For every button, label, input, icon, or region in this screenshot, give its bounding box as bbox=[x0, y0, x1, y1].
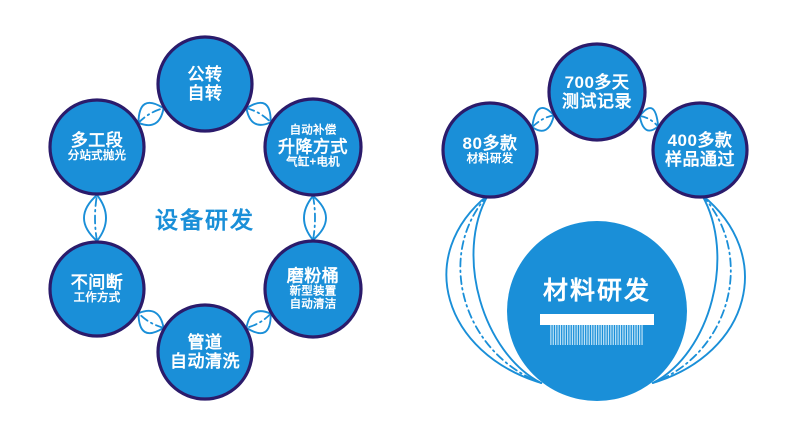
brush-bristle bbox=[567, 325, 568, 345]
brush-bristle bbox=[634, 325, 635, 345]
brush-bristle bbox=[637, 325, 638, 345]
brush-bristle bbox=[603, 325, 604, 345]
connector-arc bbox=[138, 311, 163, 328]
brush-bristle bbox=[565, 325, 566, 345]
brush-bristle bbox=[584, 325, 585, 345]
brush-bristle bbox=[608, 325, 609, 345]
brush-bristle bbox=[629, 325, 630, 345]
brush-bristle bbox=[581, 325, 582, 345]
brush-bristle bbox=[601, 325, 602, 345]
center-label-equipment-rd: 设备研发 bbox=[155, 201, 255, 235]
brush-bristle bbox=[596, 325, 597, 345]
brush-bristle bbox=[610, 325, 611, 345]
brush-bristle bbox=[589, 325, 590, 345]
node-circle-guandao[interactable] bbox=[158, 305, 252, 399]
brush-bristle bbox=[550, 325, 551, 345]
brush-bristle bbox=[560, 325, 561, 345]
brush-bristle bbox=[572, 325, 573, 345]
connector-arc bbox=[138, 313, 163, 328]
diagram-svg bbox=[0, 0, 800, 437]
connector-arc bbox=[313, 196, 315, 240]
brush-bristle bbox=[615, 325, 616, 345]
brush-bristle bbox=[562, 325, 563, 345]
node-circle-mofentong[interactable] bbox=[265, 241, 361, 337]
connector-arc bbox=[95, 195, 97, 241]
node-circle-pass400[interactable] bbox=[653, 103, 747, 197]
node-circle-days700[interactable] bbox=[549, 44, 645, 140]
hub-label-material-rd: 材料研发 bbox=[543, 271, 651, 307]
brush-bristle bbox=[605, 325, 606, 345]
connector-arc bbox=[304, 196, 313, 240]
brush-bristle bbox=[617, 325, 618, 345]
connector-arc bbox=[138, 108, 163, 125]
brush-bristle bbox=[620, 325, 621, 345]
brush-bristle bbox=[591, 325, 592, 345]
brush-bristle bbox=[598, 325, 599, 345]
brush-bristle bbox=[557, 325, 558, 345]
node-circle-shengjiang[interactable] bbox=[265, 99, 361, 195]
brush-bristle bbox=[622, 325, 623, 345]
brush-bristle bbox=[553, 325, 554, 345]
brush-bristle bbox=[593, 325, 594, 345]
brush-bristle bbox=[625, 325, 626, 345]
brush-bristle bbox=[579, 325, 580, 345]
brush-bar bbox=[540, 314, 654, 325]
brush-bristle bbox=[586, 325, 587, 345]
brush-bristle bbox=[627, 325, 628, 345]
node-circle-duogongduan[interactable] bbox=[50, 100, 144, 194]
brush-bristle bbox=[569, 325, 570, 345]
connector-arc bbox=[138, 108, 163, 123]
brush-bristle bbox=[555, 325, 556, 345]
connector-arc bbox=[246, 108, 270, 125]
connector-arc bbox=[246, 311, 270, 328]
brush-bristle bbox=[613, 325, 614, 345]
right-node-circles bbox=[443, 44, 747, 401]
brush-bristle bbox=[632, 325, 633, 345]
brush-bristle bbox=[574, 325, 575, 345]
infographic-canvas: 公转自转自动补偿升降方式气缸+电机磨粉桶新型装置自动清洁管道自动清洗不间断工作方… bbox=[0, 0, 800, 437]
brush-bristle bbox=[639, 325, 640, 345]
connector-arc bbox=[97, 195, 106, 241]
hub-circle-material-rd[interactable] bbox=[507, 221, 687, 401]
brush-bristle bbox=[577, 325, 578, 345]
brush-bristle bbox=[641, 325, 642, 345]
node-circle-models80[interactable] bbox=[443, 103, 537, 197]
node-circle-gongzhuan[interactable] bbox=[158, 37, 252, 131]
node-circle-bujianduan[interactable] bbox=[50, 242, 144, 336]
